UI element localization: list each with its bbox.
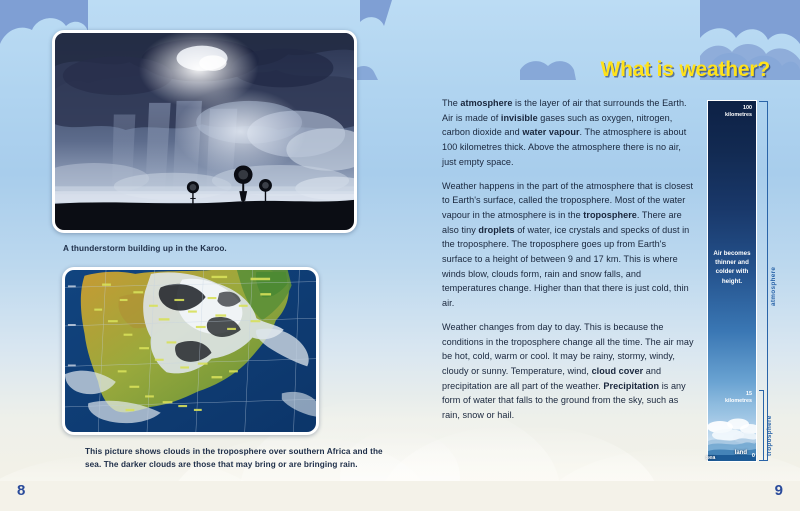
emphasis-term: cloud cover xyxy=(592,366,644,376)
troposphere-bracket xyxy=(759,390,764,461)
emphasis-term: droplets xyxy=(478,225,514,235)
right-page: What is weather? The atmosphere is the l… xyxy=(400,0,800,511)
air-thinner-note: Air becomes thinner and colder with heig… xyxy=(708,249,756,286)
body-text-run: of water, ice crystals and specks of dus… xyxy=(442,225,689,309)
satellite-photo-caption: This picture shows clouds in the troposp… xyxy=(85,446,385,471)
body-text-run: The xyxy=(442,98,460,108)
troposphere-bracket-label: troposphere xyxy=(766,415,773,456)
altitude-label-15: 15 kilometres xyxy=(725,391,752,404)
altitude-label-100: 100 kilometres xyxy=(725,105,752,118)
body-paragraph: Weather happens in the part of the atmos… xyxy=(442,179,695,311)
emphasis-term: invisible xyxy=(501,113,538,123)
satellite-photo-frame[interactable] xyxy=(62,267,319,435)
satellite-photo xyxy=(65,270,316,432)
altitude-100-value: 100 xyxy=(743,105,752,111)
storm-photo-frame[interactable] xyxy=(52,30,357,233)
emphasis-term: water vapour xyxy=(522,127,579,137)
storm-photo-caption: A thunderstorm building up in the Karoo. xyxy=(63,243,373,256)
body-copy: The atmosphere is the layer of air that … xyxy=(442,96,695,432)
page-number-right: 9 xyxy=(775,482,783,499)
sea-label: sea xyxy=(706,455,715,461)
altitude-100-unit: kilometres xyxy=(725,112,752,118)
surface-cloud-zone: land 0 xyxy=(708,405,756,461)
book-spread: A thunderstorm building up in the Karoo. xyxy=(0,0,800,511)
emphasis-term: atmosphere xyxy=(460,98,512,108)
left-page: A thunderstorm building up in the Karoo. xyxy=(0,0,400,511)
emphasis-term: Precipitation xyxy=(603,381,659,391)
land-label: land xyxy=(735,450,747,456)
altitude-15-unit: kilometres xyxy=(725,398,752,404)
page-title: What is weather? xyxy=(400,58,770,82)
emphasis-term: troposphere xyxy=(583,210,637,220)
atmosphere-bracket-label: atmosphere xyxy=(770,267,777,306)
page-number-left: 8 xyxy=(17,482,25,499)
atmosphere-diagram: 100 kilometres Air becomes thinner and c… xyxy=(704,100,794,462)
altitude-15-value: 15 xyxy=(746,391,752,397)
body-paragraph: The atmosphere is the layer of air that … xyxy=(442,96,695,170)
atmosphere-gradient-bar: 100 kilometres Air becomes thinner and c… xyxy=(707,100,757,462)
body-paragraph: Weather changes from day to day. This is… xyxy=(442,320,695,423)
storm-photo xyxy=(55,33,354,230)
zero-altitude-label: 0 xyxy=(752,453,755,459)
